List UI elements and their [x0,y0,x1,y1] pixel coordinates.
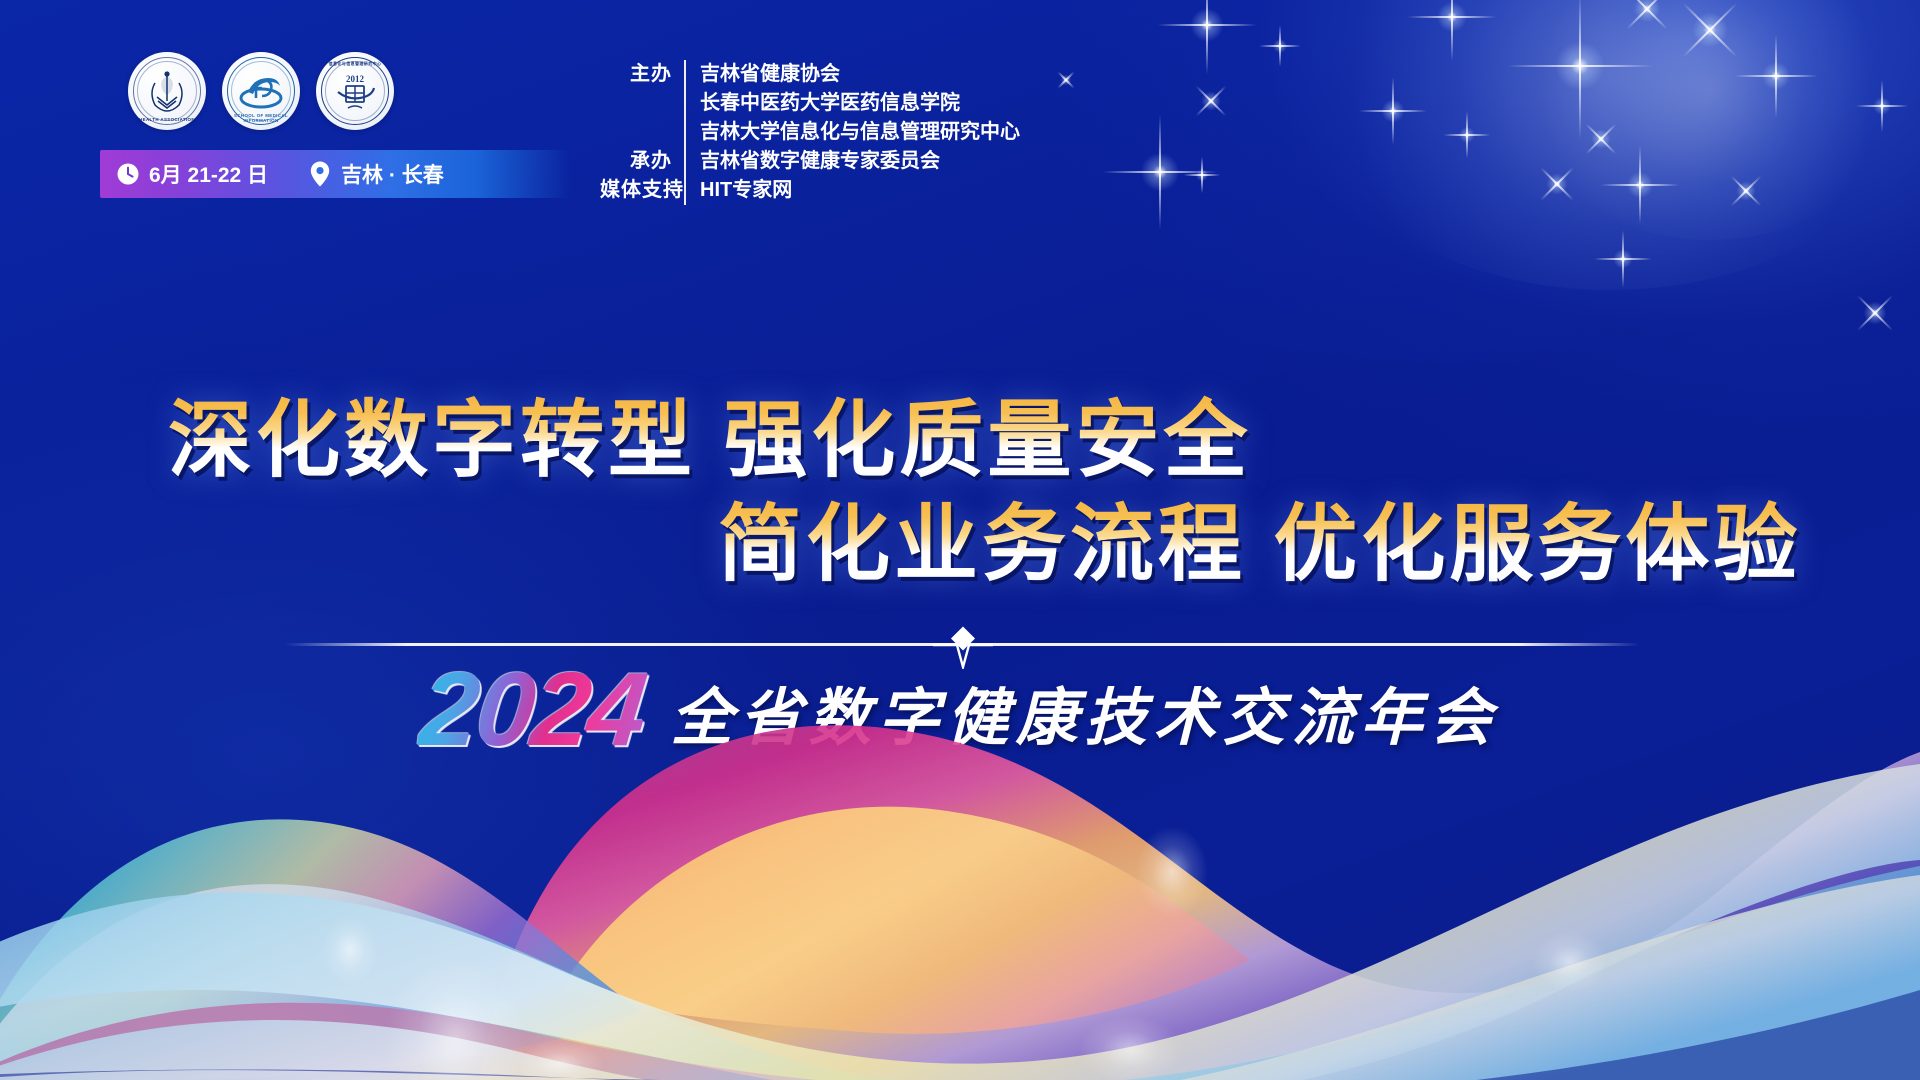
credit-label-organizer: 承办 [600,147,684,176]
credit-line: 吉林省健康协会 [700,60,1020,89]
credit-line: 吉林大学信息化与信息管理研究中心 [700,118,1020,147]
wave-ribbon-decoration [0,660,1920,1080]
star-icon [1632,0,1662,24]
star-icon [1188,6,1226,44]
event-date: 6月 21-22 日 [116,159,268,189]
clock-icon [116,162,140,186]
credit-row-host: 主办 吉林省健康协会 长春中医药大学医药信息学院 吉林大学信息化与信息管理研究中… [600,60,1020,147]
star-icon [1625,170,1655,200]
headline-line-1: 深化数字转型 强化质量安全 [0,388,1920,492]
star-icon [1690,10,1730,50]
headline-line-2: 简化业务流程 优化服务体验 [0,492,1920,596]
star-icon [1735,180,1757,202]
star-icon [1380,98,1406,124]
svg-text:2012: 2012 [346,74,365,84]
location-pin-icon [308,160,332,188]
star-icon [1458,126,1476,144]
star-icon [1138,150,1182,194]
organizer-credits: 主办 吉林省健康协会 长春中医药大学医药信息学院 吉林大学信息化与信息管理研究中… [600,60,1020,205]
jilin-university-informatization-research-center-emblem: 2012 信息化与信息管理研究中心 [316,52,394,130]
event-location: 吉林 · 长春 [308,159,444,189]
star-icon [1760,60,1792,92]
credit-line: 长春中医药大学医药信息学院 [700,89,1020,118]
credit-values-media: HIT专家网 [684,176,792,205]
star-icon [1435,0,1469,34]
credit-values-host: 吉林省健康协会 长春中医药大学医药信息学院 吉林大学信息化与信息管理研究中心 [684,60,1020,147]
event-date-text: 6月 21-22 日 [149,159,268,189]
credit-row-media: 媒体支持 HIT专家网 [600,176,1020,205]
star-icon [1272,38,1288,54]
changchun-university-cm-medical-information-emblem: SCHOOL OF MEDICAL INFORMATION [222,52,300,130]
star-icon [1200,90,1222,112]
headline-block: 深化数字转型 强化质量安全 简化业务流程 优化服务体验 [0,388,1920,596]
star-icon [1612,248,1634,270]
credit-label-host: 主办 [600,60,684,89]
star-icon [1552,38,1608,94]
credit-line: 吉林省数字健康专家委员会 [700,147,940,176]
jilin-health-association-emblem: HEALTH ASSOCIATION [128,52,206,130]
credit-row-organizer: 承办 吉林省数字健康专家委员会 [600,147,1020,176]
credit-label-media: 媒体支持 [600,176,684,205]
credit-values-organizer: 吉林省数字健康专家委员会 [684,147,940,176]
credit-line: HIT专家网 [700,176,792,205]
conference-banner: HEALTH ASSOCIATION SCHOOL OF MEDICAL INF… [0,0,1920,1080]
star-icon [1590,128,1612,150]
event-location-text: 吉林 · 长春 [341,159,444,189]
date-location-bar: 6月 21-22 日 吉林 · 长春 [100,150,570,198]
star-icon [1060,74,1072,86]
star-icon [1195,168,1209,182]
star-icon [1872,96,1892,116]
star-icon [1545,172,1569,196]
star-icon [1862,300,1888,326]
organizer-logos: HEALTH ASSOCIATION SCHOOL OF MEDICAL INF… [128,52,394,130]
